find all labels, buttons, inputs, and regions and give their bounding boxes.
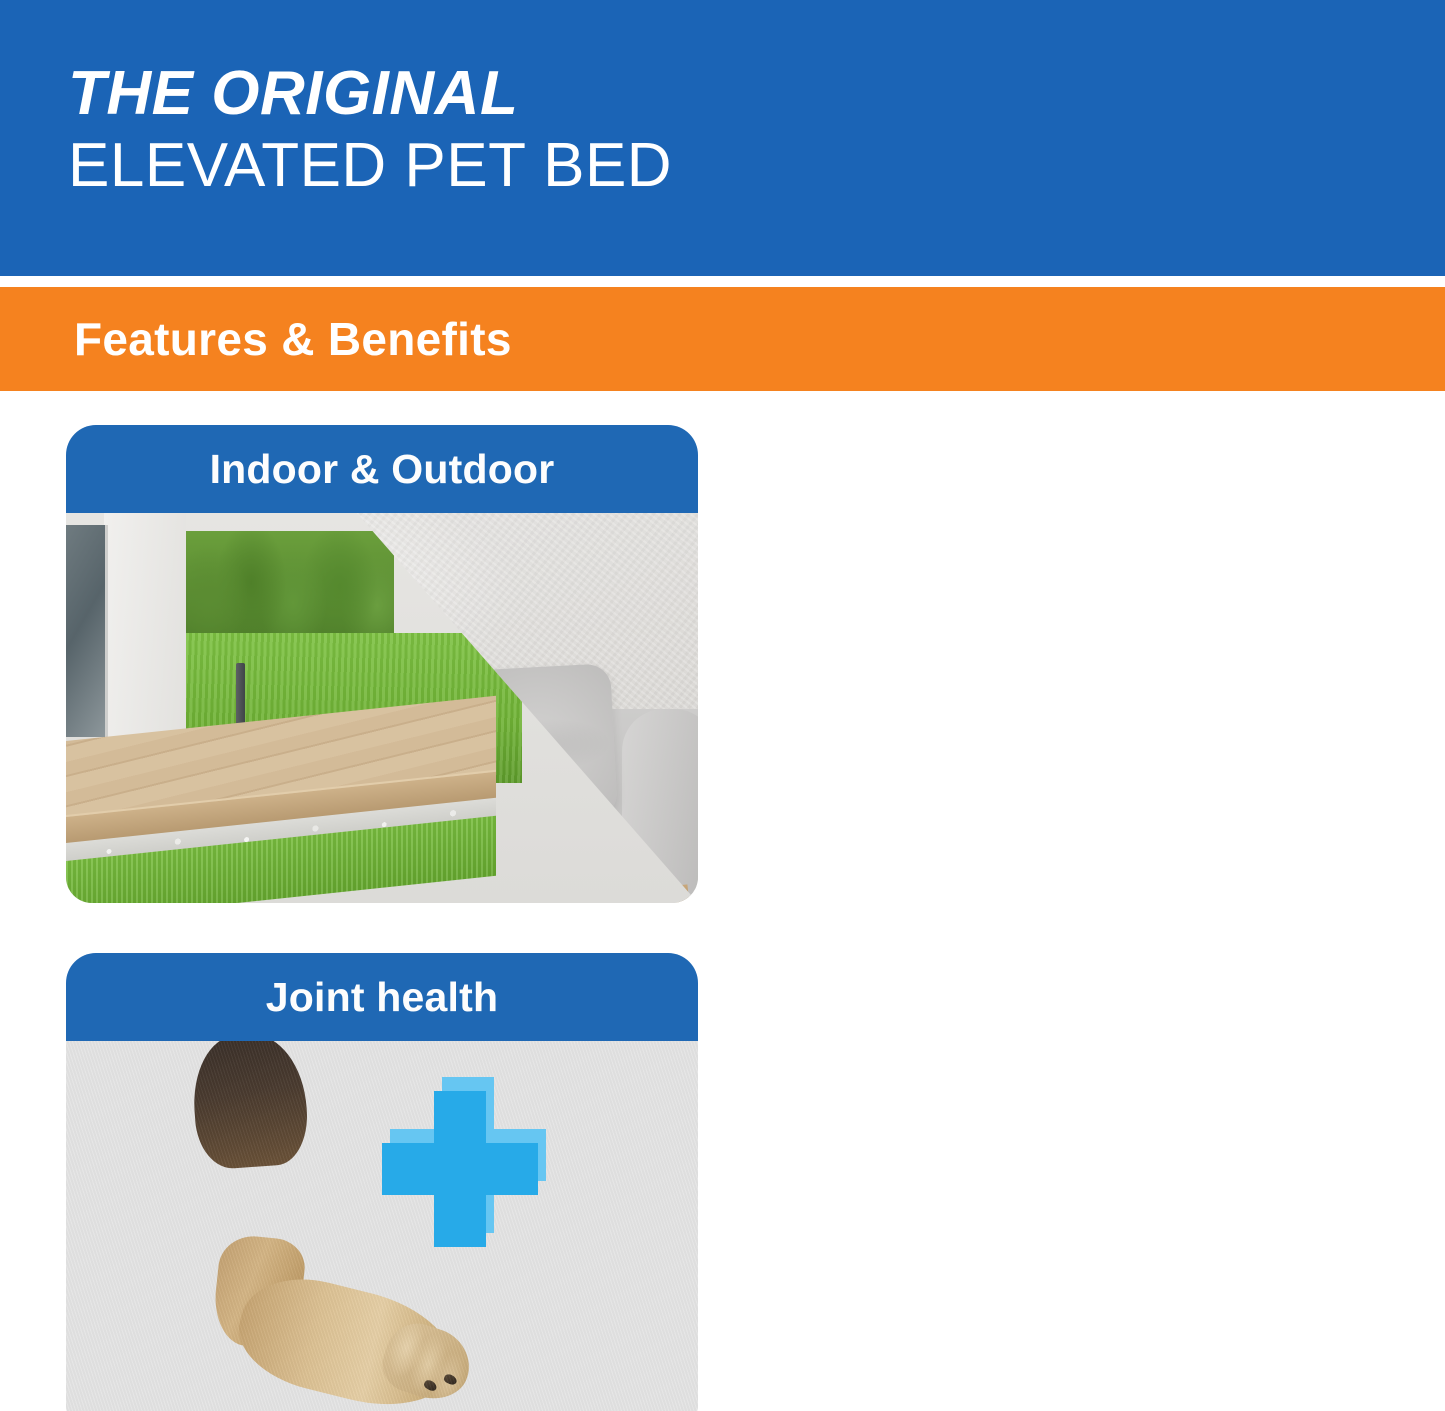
feature-card-indoor-outdoor: Indoor & Outdoor: [66, 425, 698, 903]
features-banner: Features & Benefits: [0, 287, 1445, 391]
house-wall: [104, 513, 186, 753]
feature-image-indoor-outdoor: [66, 513, 698, 903]
hero-title-primary: THE ORIGINAL: [68, 62, 1445, 125]
infographic-page: THE ORIGINAL ELEVATED PET BED Features &…: [0, 0, 1445, 1411]
feature-title: Joint health: [266, 974, 498, 1021]
garden-post: [236, 663, 245, 725]
indoor-outdoor-composite-icon: [66, 513, 698, 903]
feature-card-header: Joint health: [66, 953, 698, 1041]
feature-card-joint-health: Joint health: [66, 953, 698, 1411]
feature-grid: Indoor & Outdoor: [66, 425, 1381, 1411]
feature-title: Indoor & Outdoor: [210, 446, 555, 493]
cross-front-layer: [382, 1091, 538, 1247]
hero-title-secondary: ELEVATED PET BED: [68, 131, 1445, 200]
dog-leg-scene: [66, 1041, 698, 1411]
medical-cross-icon: [382, 1077, 582, 1277]
hero-header: THE ORIGINAL ELEVATED PET BED: [0, 0, 1445, 276]
glass-door: [66, 525, 108, 737]
feature-card-header: Indoor & Outdoor: [66, 425, 698, 513]
features-banner-title: Features & Benefits: [74, 312, 512, 366]
feature-image-joint-health: [66, 1041, 698, 1411]
cross-bar-vertical: [434, 1091, 486, 1247]
